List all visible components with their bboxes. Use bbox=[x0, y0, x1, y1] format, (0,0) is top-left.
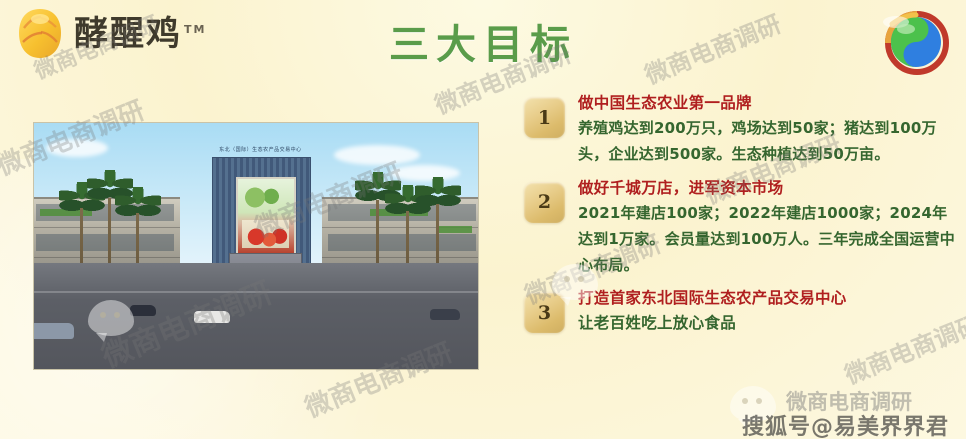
goal-number-badge: 1 bbox=[524, 97, 565, 138]
wechat-bubble-icon bbox=[730, 386, 776, 422]
watermark-secondary: 搜狐号@易美界界君 bbox=[742, 409, 949, 439]
car-shape bbox=[130, 305, 156, 316]
globe-logo-icon bbox=[876, 6, 954, 78]
cloud-shape bbox=[46, 139, 108, 157]
awning-shape bbox=[438, 226, 472, 233]
goal-description: 养殖鸡达到200万只，鸡场达到50家；猪达到100万头，企业达到500家。生态种… bbox=[578, 116, 960, 168]
goal-description: 2021年建店100家；2022年建店1000家；2024年达到1万家。会员量达… bbox=[578, 201, 960, 278]
goals-list: 1 做中国生态农业第一品牌 养殖鸡达到200万只，鸡场达到50家；猪达到100万… bbox=[524, 92, 960, 344]
goal-number-badge: 2 bbox=[524, 182, 565, 223]
building-rendering-image: 东北（国际）生态农产品交易中心 bbox=[33, 122, 479, 370]
goal-heading: 打造首家东北国际生态农产品交易中心 bbox=[578, 287, 960, 310]
goal-item: 2 做好千城万店，进军资本市场 2021年建店100家；2022年建店1000家… bbox=[524, 177, 960, 279]
goal-heading: 做好千城万店，进军资本市场 bbox=[578, 177, 960, 200]
car-shape bbox=[430, 309, 460, 320]
building-sign-text: 东北（国际）生态农产品交易中心 bbox=[212, 146, 310, 153]
goal-heading: 做中国生态农业第一品牌 bbox=[578, 92, 960, 115]
watermark-primary: 微商电商调研 bbox=[786, 386, 912, 416]
goal-description: 让老百姓吃上放心食品 bbox=[578, 312, 960, 335]
goal-item: 1 做中国生态农业第一品牌 养殖鸡达到200万只，鸡场达到50家；猪达到100万… bbox=[524, 92, 960, 168]
slide-root: 酵醒鸡TM 三大目标 bbox=[0, 0, 966, 439]
billboard-screen bbox=[236, 177, 296, 255]
car-shape bbox=[194, 311, 230, 323]
car-shape bbox=[33, 323, 74, 339]
goal-item: 3 打造首家东北国际生态农产品交易中心 让老百姓吃上放心食品 bbox=[524, 287, 960, 335]
cloud-shape bbox=[334, 145, 420, 165]
page-title: 三大目标 bbox=[0, 12, 966, 70]
goal-number-badge: 3 bbox=[524, 292, 565, 333]
